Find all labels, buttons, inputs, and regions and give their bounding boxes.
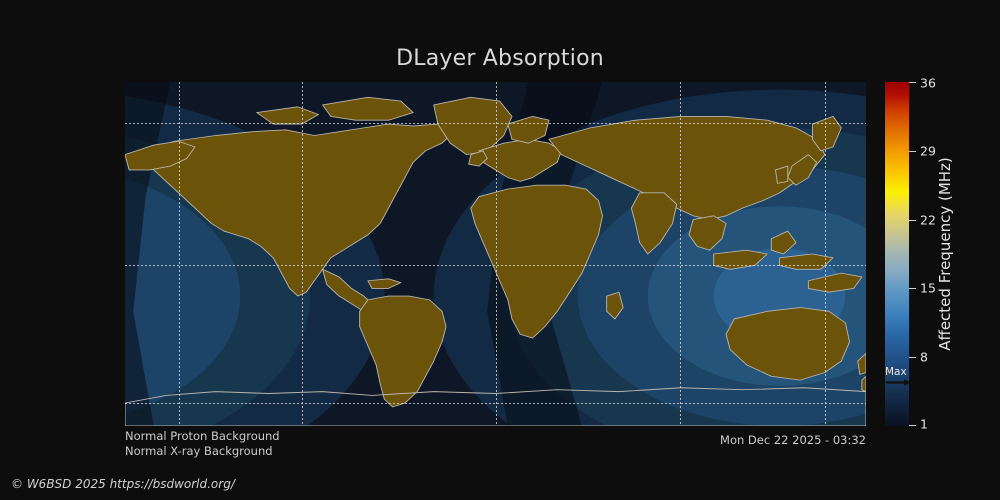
colorbar-tick-29	[909, 151, 916, 152]
copyright-notice: © W6BSD 2025 https://bsdworld.org/	[11, 477, 235, 491]
colorbar-label-1: 1	[920, 417, 928, 432]
map-canvas	[125, 82, 866, 426]
colorbar-label-36: 36	[920, 76, 936, 91]
colorbar-tick-22	[909, 220, 916, 221]
world-map[interactable]	[125, 82, 866, 426]
colorbar-axis-label-text: Affected Frequency (MHz)	[936, 157, 954, 351]
colorbar-label-8: 8	[920, 350, 928, 365]
colorbar-label-22: 22	[920, 212, 936, 227]
colorbar-tick-36	[909, 82, 916, 83]
colorbar-label-29: 29	[920, 143, 936, 158]
map-graphics	[125, 82, 866, 426]
colorbar-tick-15	[909, 288, 916, 289]
colorbar-label-15: 15	[920, 281, 936, 296]
colorbar-tick-1	[909, 425, 916, 426]
timestamp: Mon Dec 22 2025 - 03:32	[560, 433, 866, 447]
dlayer-absorption-map-page: DLayer Absorption	[0, 0, 1000, 500]
status-xray: Normal X-ray Background	[125, 444, 280, 459]
arrow-right-icon	[886, 379, 913, 386]
page-title: DLayer Absorption	[0, 46, 1000, 71]
max-marker-label: Max	[885, 366, 907, 378]
status-block: Normal Proton Background Normal X-ray Ba…	[125, 429, 280, 459]
status-proton: Normal Proton Background	[125, 429, 280, 444]
colorbar-tick-8	[909, 357, 916, 358]
colorbar-axis-label: Affected Frequency (MHz)	[935, 82, 955, 426]
colorbar-max-marker: Max	[885, 366, 925, 388]
